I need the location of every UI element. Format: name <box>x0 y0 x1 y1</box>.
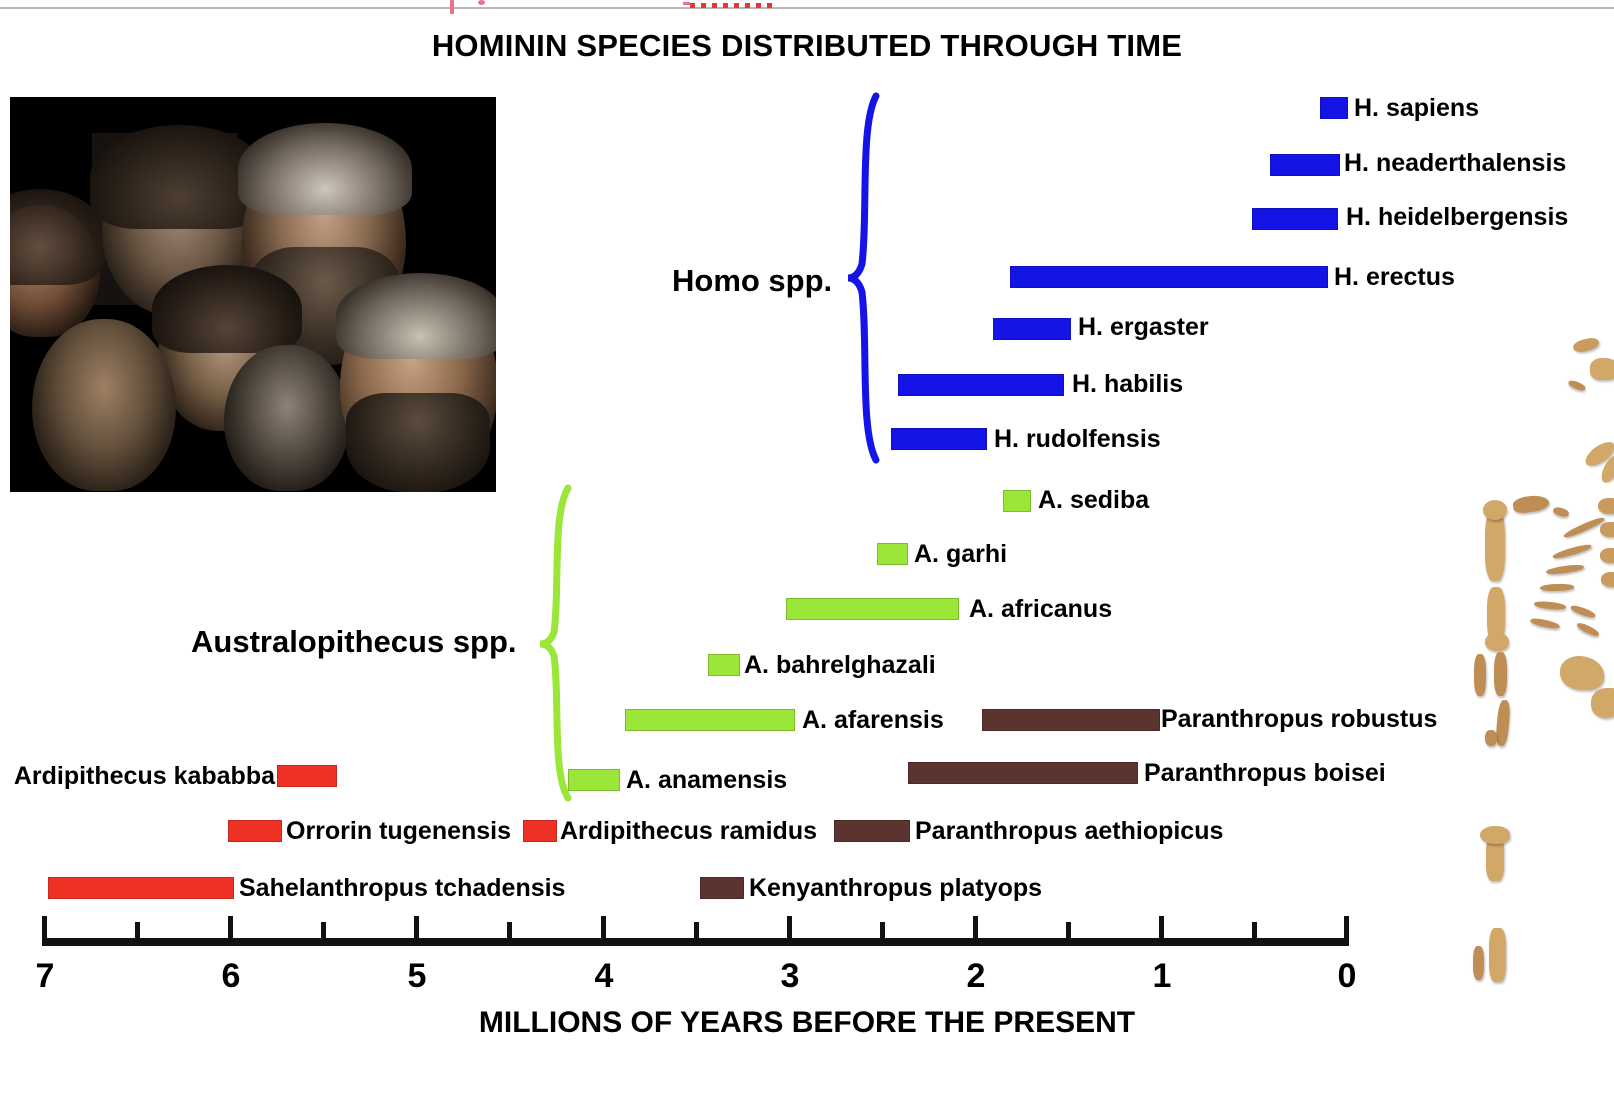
axis-tick-major <box>787 916 792 942</box>
axis-tick-minor <box>1066 922 1071 942</box>
axis-tick-minor <box>880 922 885 942</box>
axis-tick-major <box>228 916 233 942</box>
bone-humerus-head <box>1483 500 1507 520</box>
bar-paranthropus-robustus <box>982 709 1160 731</box>
bone-vertebra <box>1600 548 1614 563</box>
bar-sahelanthropus-tchadensis <box>48 877 234 899</box>
bar-a-garhi <box>877 543 908 565</box>
bone-fragment <box>1552 506 1570 518</box>
bar-a-afarensis <box>625 709 795 731</box>
axis-tick-label-4: 4 <box>574 957 634 996</box>
axis-tick-label-6: 6 <box>201 957 261 996</box>
bar-h-sapiens <box>1320 97 1348 119</box>
bar-label-ardipithecus-kababba: Ardipithecus kababba <box>0 765 275 787</box>
bone-rib <box>1576 621 1601 638</box>
group-label-homo: Homo spp. <box>672 263 832 299</box>
axis-tick-major <box>601 916 606 942</box>
bar-label-orrorin-tugenensis: Orrorin tugenensis <box>286 820 511 842</box>
bust-bottom-right-hair <box>336 273 496 359</box>
homo-group-brace <box>846 92 886 464</box>
bar-label-h-rudolfensis: H. rudolfensis <box>994 428 1161 450</box>
bone-radius-end <box>1485 633 1509 651</box>
axis-tick-label-0: 0 <box>1317 957 1377 996</box>
australopithecus-group-brace <box>538 484 578 802</box>
pink-mark-dot <box>478 0 485 5</box>
axis-tick-minor <box>694 922 699 942</box>
bone-fibula <box>1473 946 1484 980</box>
bar-kenyanthropus-platyops <box>700 877 744 899</box>
axis-tick-label-5: 5 <box>387 957 447 996</box>
bone-fragment <box>1590 358 1614 380</box>
axis-title: MILLIONS OF YEARS BEFORE THE PRESENT <box>0 1006 1614 1040</box>
bar-a-anamensis <box>568 769 620 791</box>
bone-rib <box>1552 543 1592 561</box>
bone-fragment <box>1485 730 1497 746</box>
bust-center-hair <box>152 265 302 353</box>
axis-tick-minor <box>1252 922 1257 942</box>
bar-label-ardipithecus-ramidus: Ardipithecus ramidus <box>560 820 817 842</box>
bone-fragment <box>1494 652 1507 696</box>
bar-h-erectus <box>1010 266 1328 288</box>
bone-vertebra <box>1598 498 1614 514</box>
bar-paranthropus-boisei <box>908 762 1138 784</box>
axis-tick-label-7: 7 <box>15 957 75 996</box>
bar-label-a-garhi: A. garhi <box>914 543 1007 565</box>
hominin-busts-photo <box>10 97 496 492</box>
bone-rib <box>1546 563 1585 575</box>
page-title: HOMININ SPECIES DISTRIBUTED THROUGH TIME <box>0 28 1614 64</box>
group-label-australopithecus: Australopithecus spp. <box>191 624 517 660</box>
axis-tick-minor <box>507 922 512 942</box>
bar-label-paranthropus-robustus: Paranthropus robustus <box>1161 708 1437 730</box>
bar-label-sahelanthropus-tchadensis: Sahelanthropus tchadensis <box>239 877 565 899</box>
bar-label-a-afarensis: A. afarensis <box>802 709 944 731</box>
bar-label-kenyanthropus-platyops: Kenyanthropus platyops <box>749 877 1042 899</box>
axis-tick-major <box>1159 916 1164 942</box>
axis-tick-major <box>42 916 47 942</box>
axis-tick-label-1: 1 <box>1132 957 1192 996</box>
axis-tick-major <box>1344 916 1349 942</box>
bone-rib <box>1534 600 1567 610</box>
bone-fragment <box>1572 336 1600 354</box>
bone-fragment <box>1567 379 1586 392</box>
bone-scapula <box>1512 494 1550 515</box>
bone-rib <box>1540 583 1574 591</box>
bar-orrorin-tugenensis <box>228 820 282 842</box>
pink-mark-stroke <box>450 0 454 14</box>
bone-pelvis <box>1560 656 1604 690</box>
bar-label-h-habilis: H. habilis <box>1072 373 1183 395</box>
bar-label-a-bahrelghazali: A. bahrelghazali <box>744 654 936 676</box>
bar-a-africanus <box>786 598 959 620</box>
bone-pelvis <box>1591 688 1614 718</box>
bar-a-bahrelghazali <box>708 654 740 676</box>
bone-rib <box>1570 604 1597 619</box>
bar-label-paranthropus-boisei: Paranthropus boisei <box>1144 762 1386 784</box>
axis-tick-major <box>973 916 978 942</box>
top-rule <box>0 7 1614 9</box>
bar-ardipithecus-kababba <box>277 765 337 787</box>
bar-label-a-anamensis: A. anamensis <box>626 769 787 791</box>
bar-paranthropus-aethiopicus <box>834 820 910 842</box>
axis-tick-label-2: 2 <box>946 957 1006 996</box>
bone-fragment <box>1495 700 1511 747</box>
bust-bottom-right-beard <box>346 393 490 492</box>
bar-h-rudolfensis <box>891 428 987 450</box>
bar-label-paranthropus-aethiopicus: Paranthropus aethiopicus <box>915 820 1223 842</box>
bone-femur-head <box>1480 826 1510 844</box>
bone-tibia <box>1489 928 1506 982</box>
bust-bottom-center <box>224 345 350 491</box>
pink-dotted-underline <box>690 3 785 8</box>
bone-vertebra <box>1601 572 1614 587</box>
bar-label-h-neaderthalensis: H. neaderthalensis <box>1344 152 1566 174</box>
bar-label-h-ergaster: H. ergaster <box>1078 316 1209 338</box>
bar-h-ergaster <box>993 318 1071 340</box>
bar-ardipithecus-ramidus <box>523 820 557 842</box>
bar-h-neaderthalensis <box>1270 154 1340 176</box>
bone-fragment <box>1474 654 1486 696</box>
bar-label-a-sediba: A. sediba <box>1038 489 1149 511</box>
axis-tick-major <box>414 916 419 942</box>
bar-h-heidelbergensis <box>1252 208 1338 230</box>
bar-a-sediba <box>1003 490 1031 512</box>
bar-label-h-heidelbergensis: H. heidelbergensis <box>1346 206 1568 228</box>
bone-vertebra <box>1600 522 1614 537</box>
chart-canvas: HOMININ SPECIES DISTRIBUTED THROUGH TIME… <box>0 0 1614 1116</box>
bar-label-h-erectus: H. erectus <box>1334 266 1455 288</box>
bar-label-a-africanus: A. africanus <box>969 598 1112 620</box>
pink-mark-dash <box>683 2 690 5</box>
axis-tick-label-3: 3 <box>760 957 820 996</box>
bar-label-h-sapiens: H. sapiens <box>1354 97 1479 119</box>
axis-tick-minor <box>321 922 326 942</box>
bust-bottom-left <box>32 319 176 491</box>
bar-h-habilis <box>898 374 1064 396</box>
axis-tick-minor <box>135 922 140 942</box>
bone-rib <box>1530 617 1561 630</box>
bust-top-right-hair <box>238 123 412 215</box>
